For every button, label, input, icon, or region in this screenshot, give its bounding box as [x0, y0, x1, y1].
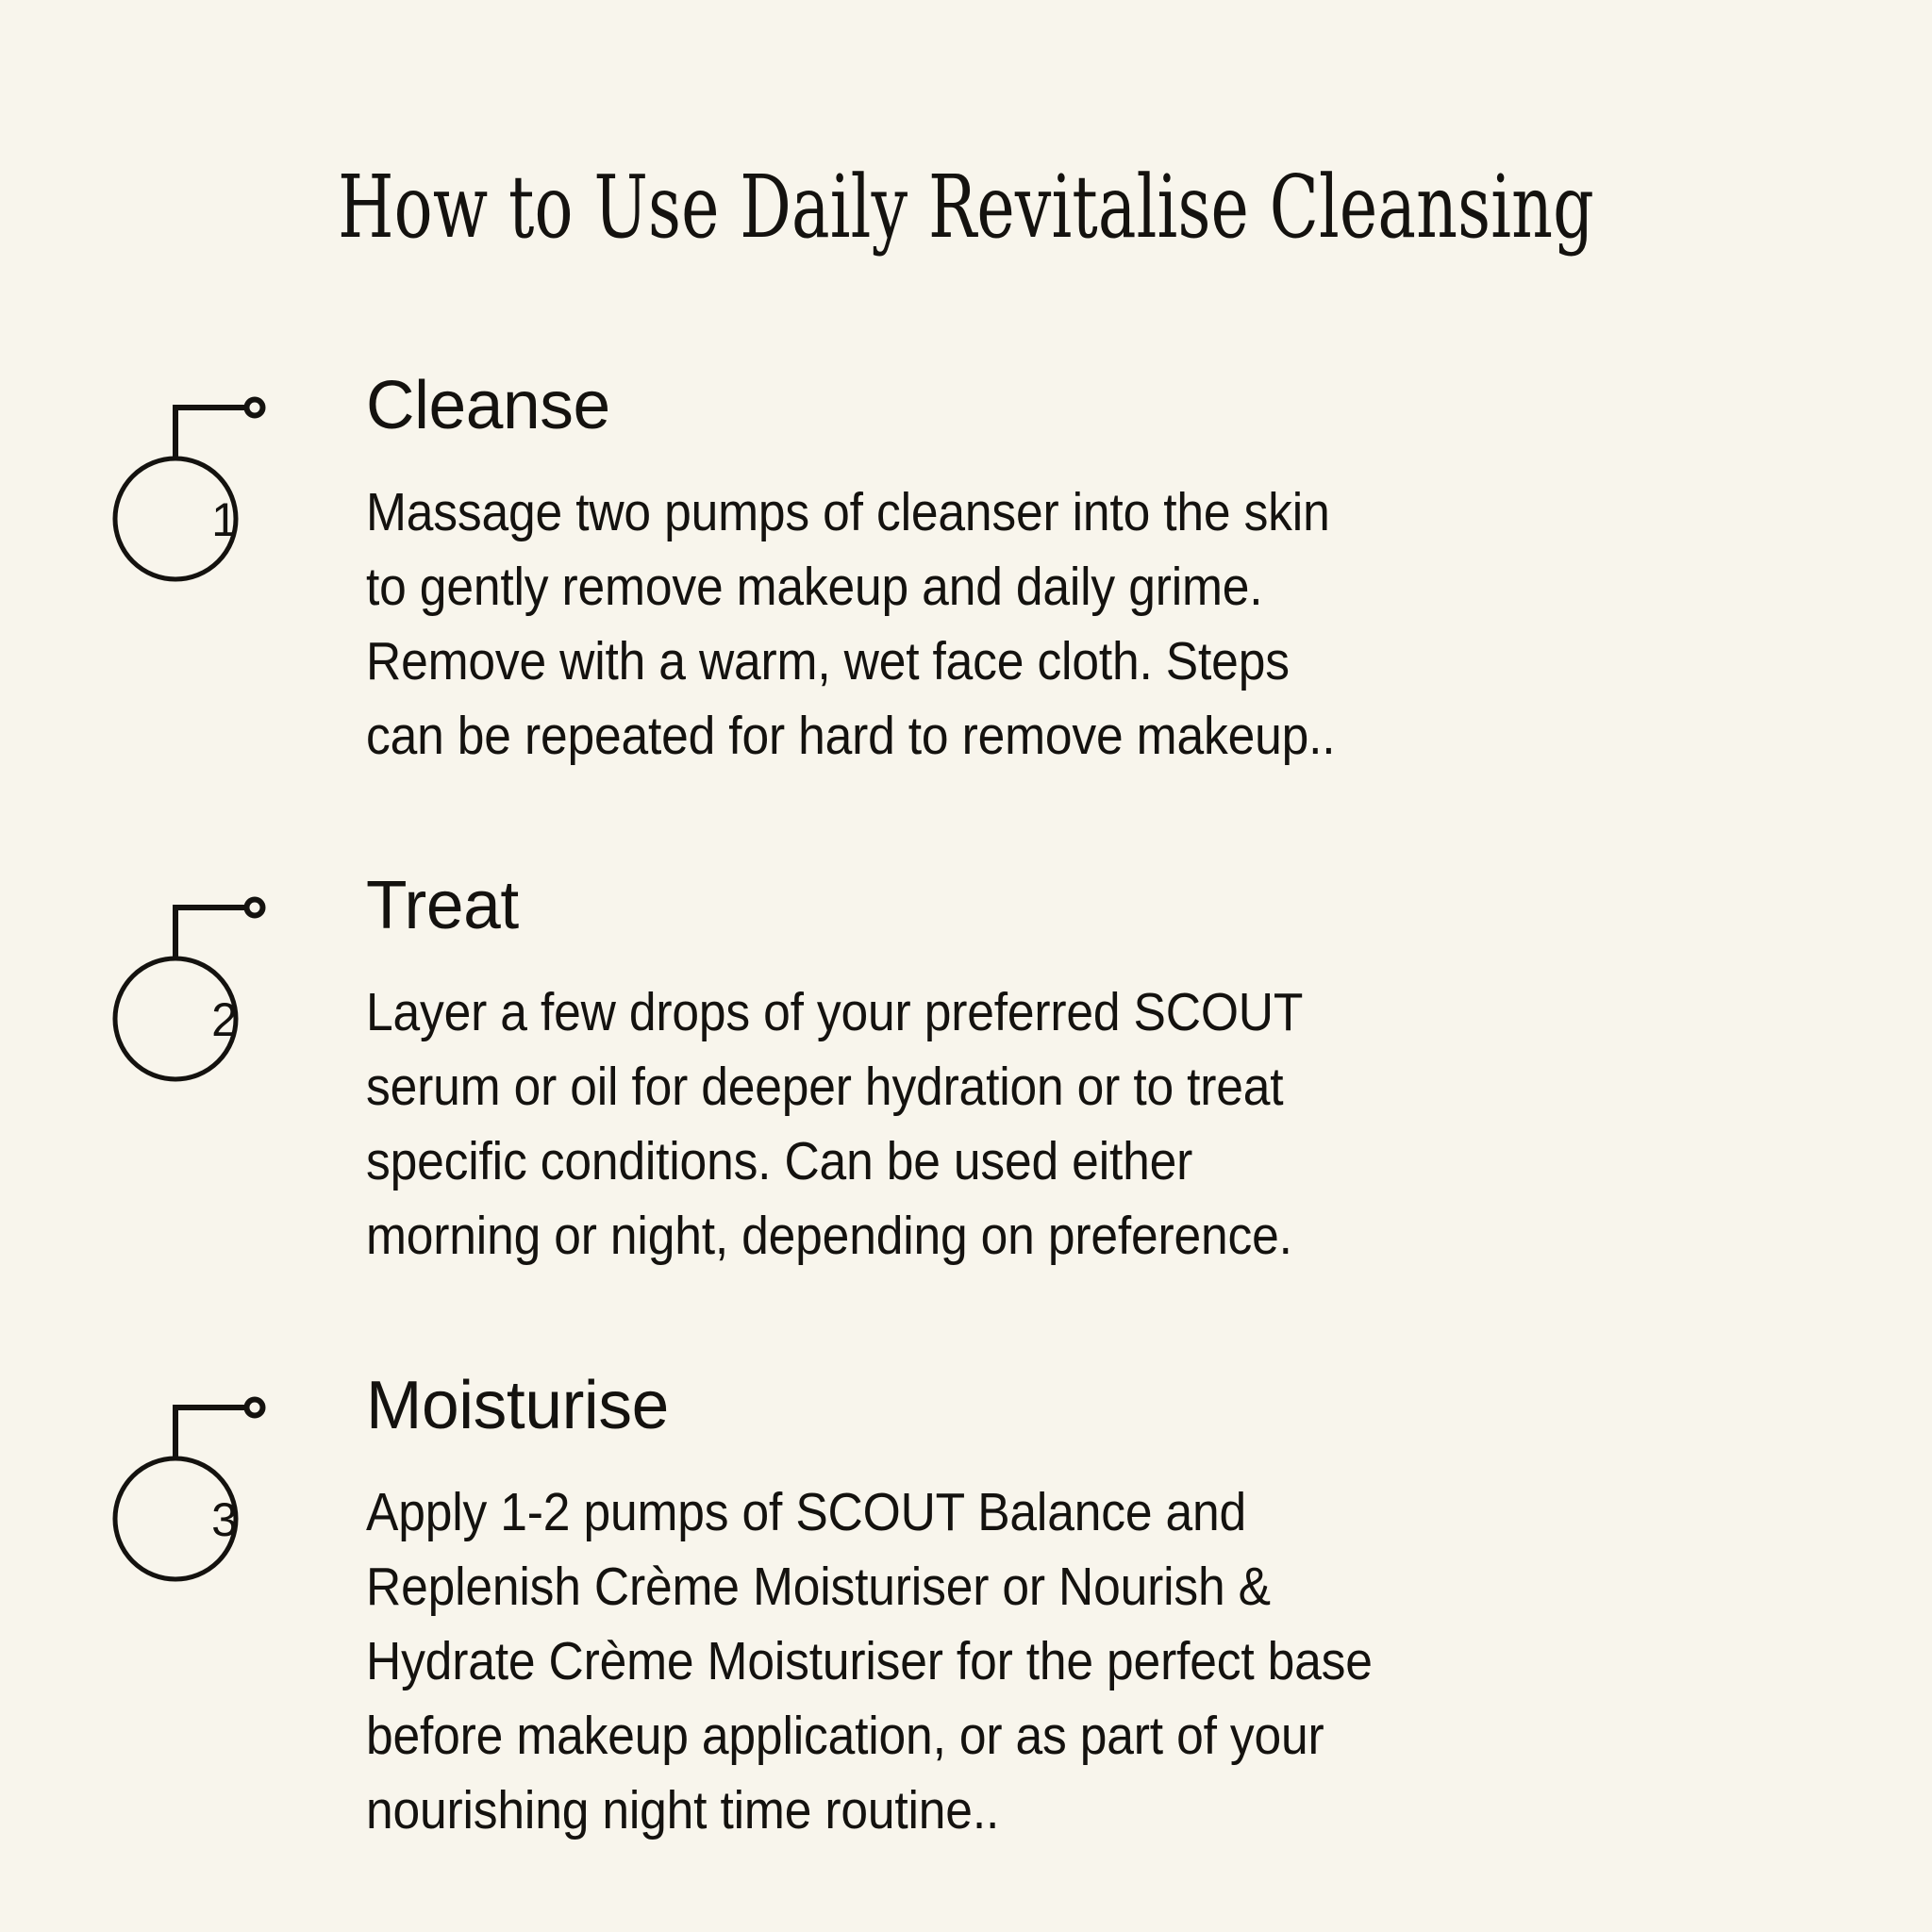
step-number-2: 2 — [111, 992, 338, 1047]
leader-line-1 — [175, 408, 247, 458]
step-body-moisturise: Apply 1-2 pumps of SCOUT Balance and Rep… — [366, 1440, 1578, 1848]
step-item-treat: 2 Treat Layer a few drops of your prefer… — [0, 868, 1932, 1274]
step-content-1: Cleanse Massage two pumps of cleanser in… — [366, 368, 1706, 774]
step-heading-cleanse: Cleanse — [366, 368, 1692, 440]
step-heading-treat: Treat — [366, 868, 1692, 940]
step-heading-moisturise: Moisturise — [366, 1368, 1692, 1440]
leader-endpoint-dot-3 — [247, 1400, 263, 1416]
step-body-treat: Layer a few drops of your preferred SCOU… — [366, 940, 1578, 1274]
steps-list: 1 Cleanse Massage two pumps of cleanser … — [0, 368, 1932, 1848]
instruction-card: How to Use Daily Revitalise Cleansing 1 … — [0, 0, 1932, 1932]
step-marker-graphic-2 — [111, 868, 338, 1151]
step-item-cleanse: 1 Cleanse Massage two pumps of cleanser … — [0, 368, 1932, 774]
step-content-3: Moisturise Apply 1-2 pumps of SCOUT Bala… — [366, 1368, 1706, 1848]
leader-endpoint-dot-2 — [247, 900, 263, 916]
step-number-circle-3 — [115, 1458, 236, 1579]
leader-line-3 — [175, 1407, 247, 1458]
step-number-1: 1 — [111, 492, 338, 547]
step-number-3: 3 — [111, 1492, 338, 1547]
step-body-cleanse: Massage two pumps of cleanser into the s… — [366, 440, 1578, 774]
leader-endpoint-dot-1 — [247, 400, 263, 416]
step-content-2: Treat Layer a few drops of your preferre… — [366, 868, 1706, 1274]
step-number-circle-2 — [115, 958, 236, 1079]
step-marker-graphic-3 — [111, 1368, 338, 1651]
step-item-moisturise: 3 Moisturise Apply 1-2 pumps of SCOUT Ba… — [0, 1368, 1932, 1848]
step-marker-1: 1 — [111, 368, 338, 651]
page-title: How to Use Daily Revitalise Cleansing — [251, 162, 1681, 254]
step-number-circle-1 — [115, 458, 236, 579]
step-marker-2: 2 — [111, 868, 338, 1151]
step-marker-graphic-1 — [111, 368, 338, 651]
leader-line-2 — [175, 908, 247, 958]
step-marker-3: 3 — [111, 1368, 338, 1651]
